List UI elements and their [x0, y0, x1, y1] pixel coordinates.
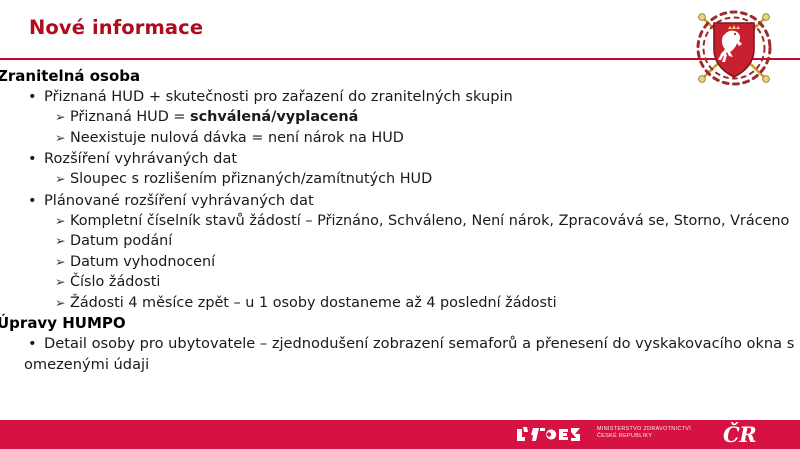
sub-bullet-item: ➢ Přiznaná HUD = schválená/vyplacená [0, 107, 800, 128]
bullet-dot-icon: • [28, 190, 37, 211]
sub-bullet-item: ➢ Kompletní číselník stavů žádostí – Při… [0, 211, 800, 232]
arrow-bullet-icon: ➢ [55, 211, 65, 232]
bullet-dot-icon: • [28, 148, 37, 169]
bullet-label: Rozšíření vyhrávaných dat [44, 150, 237, 167]
sub-bullet-label: Číslo žádosti [70, 274, 160, 290]
sub-bullet-item: ➢ Žádosti 4 měsíce zpět – u 1 osoby dost… [0, 293, 800, 314]
cr-logo: ČR [723, 423, 756, 447]
bullet-item: • Rozšíření vyhrávaných dat [0, 148, 800, 169]
arrow-bullet-icon: ➢ [55, 293, 65, 314]
bullet-label: Přiznaná HUD + skutečnosti pro zařazení … [44, 88, 513, 105]
arrow-bullet-icon: ➢ [55, 169, 65, 190]
sub-bullet-item: ➢ Datum vyhodnocení [0, 252, 800, 273]
ministry-name-text: MINISTERSTVO ZDRAVOTNICTVÍ ČESKÉ REPUBLI… [597, 426, 715, 441]
sub-bullet-label: Přiznaná HUD = [70, 109, 190, 125]
sub-bullet-item: ➢ Číslo žádosti [0, 272, 800, 293]
arrow-bullet-icon: ➢ [55, 252, 65, 273]
bullet-continuation-line: omezenými údaji [0, 354, 800, 375]
arrow-bullet-icon: ➢ [55, 272, 65, 293]
page-title: Nové informace [29, 16, 203, 39]
bullet-label: Plánované rozšíření vyhrávaných dat [44, 192, 314, 209]
bullet-dot-icon: • [28, 333, 37, 354]
section-heading-upravy-humpo: Úpravy HUMPO [0, 313, 800, 333]
bullet-dot-icon: • [28, 86, 37, 107]
sub-bullet-label: Datum podání [70, 233, 172, 249]
sub-bullet-item: ➢ Datum podání [0, 231, 800, 252]
arrow-bullet-icon: ➢ [55, 128, 65, 149]
bullet-label: Detail osoby pro ubytovatele – zjednoduš… [44, 335, 794, 352]
sub-bullet-item: ➢ Neexistuje nulová dávka = není nárok n… [0, 128, 800, 149]
czech-coat-of-arms-icon [678, 3, 790, 91]
slide-canvas: Nové informace [0, 0, 800, 449]
sub-bullet-label: Neexistuje nulová dávka = není nárok na … [70, 130, 404, 146]
ministry-logo-mark-icon [516, 425, 590, 444]
arrow-bullet-icon: ➢ [55, 231, 65, 252]
slide-body: Zranitelná osoba • Přiznaná HUD + skuteč… [0, 66, 800, 396]
sub-bullet-label: Kompletní číselník stavů žádostí – Přizn… [70, 213, 789, 229]
sub-bullet-label: Žádosti 4 měsíce zpět – u 1 osoby dostan… [70, 295, 557, 311]
arrow-bullet-icon: ➢ [55, 107, 65, 128]
sub-bullet-item: ➢ Sloupec s rozlišením přiznaných/zamítn… [0, 169, 800, 190]
bullet-item: • Plánované rozšíření vyhrávaných dat [0, 190, 800, 211]
sub-bullet-label: Sloupec s rozlišením přiznaných/zamítnut… [70, 171, 432, 187]
sub-bullet-emphasis: schválená/vyplacená [190, 109, 358, 125]
ministry-line-2: ČESKÉ REPUBLIKY [597, 433, 715, 440]
bullet-item: • Detail osoby pro ubytovatele – zjednod… [0, 333, 800, 354]
sub-bullet-label: Datum vyhodnocení [70, 254, 215, 270]
